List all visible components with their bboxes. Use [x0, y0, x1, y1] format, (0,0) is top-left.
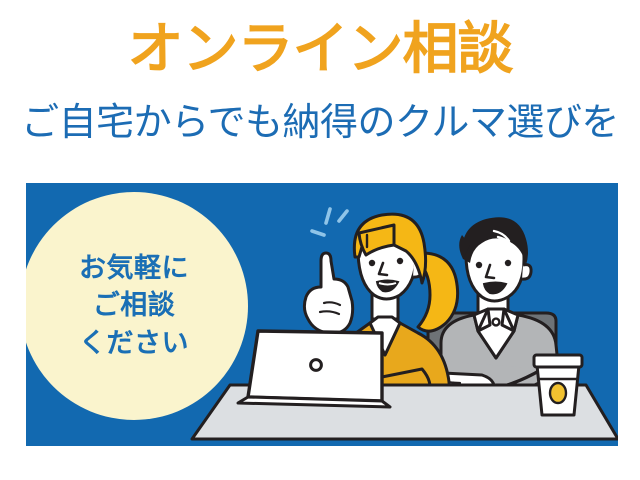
laptop: [238, 331, 390, 407]
status-badge: お気軽に ご相談 ください: [26, 192, 248, 420]
coffee-cup-icon: [534, 355, 582, 415]
illustration-panel: お気軽に ご相談 ください: [26, 183, 618, 446]
page-title: オンライン相談: [0, 22, 640, 78]
poster-root: オンライン相談 ご自宅からでも納得のクルマ選びを: [0, 0, 640, 480]
page-subtitle: ご自宅からでも納得のクルマ選びを: [0, 103, 640, 141]
badge-line-2: ご相談: [93, 287, 176, 324]
badge-line-3: ください: [79, 325, 189, 362]
pointing-hand-icon: [304, 253, 352, 333]
badge-line-1: お気軽に: [79, 250, 189, 287]
sparkle-icon: [312, 209, 347, 235]
